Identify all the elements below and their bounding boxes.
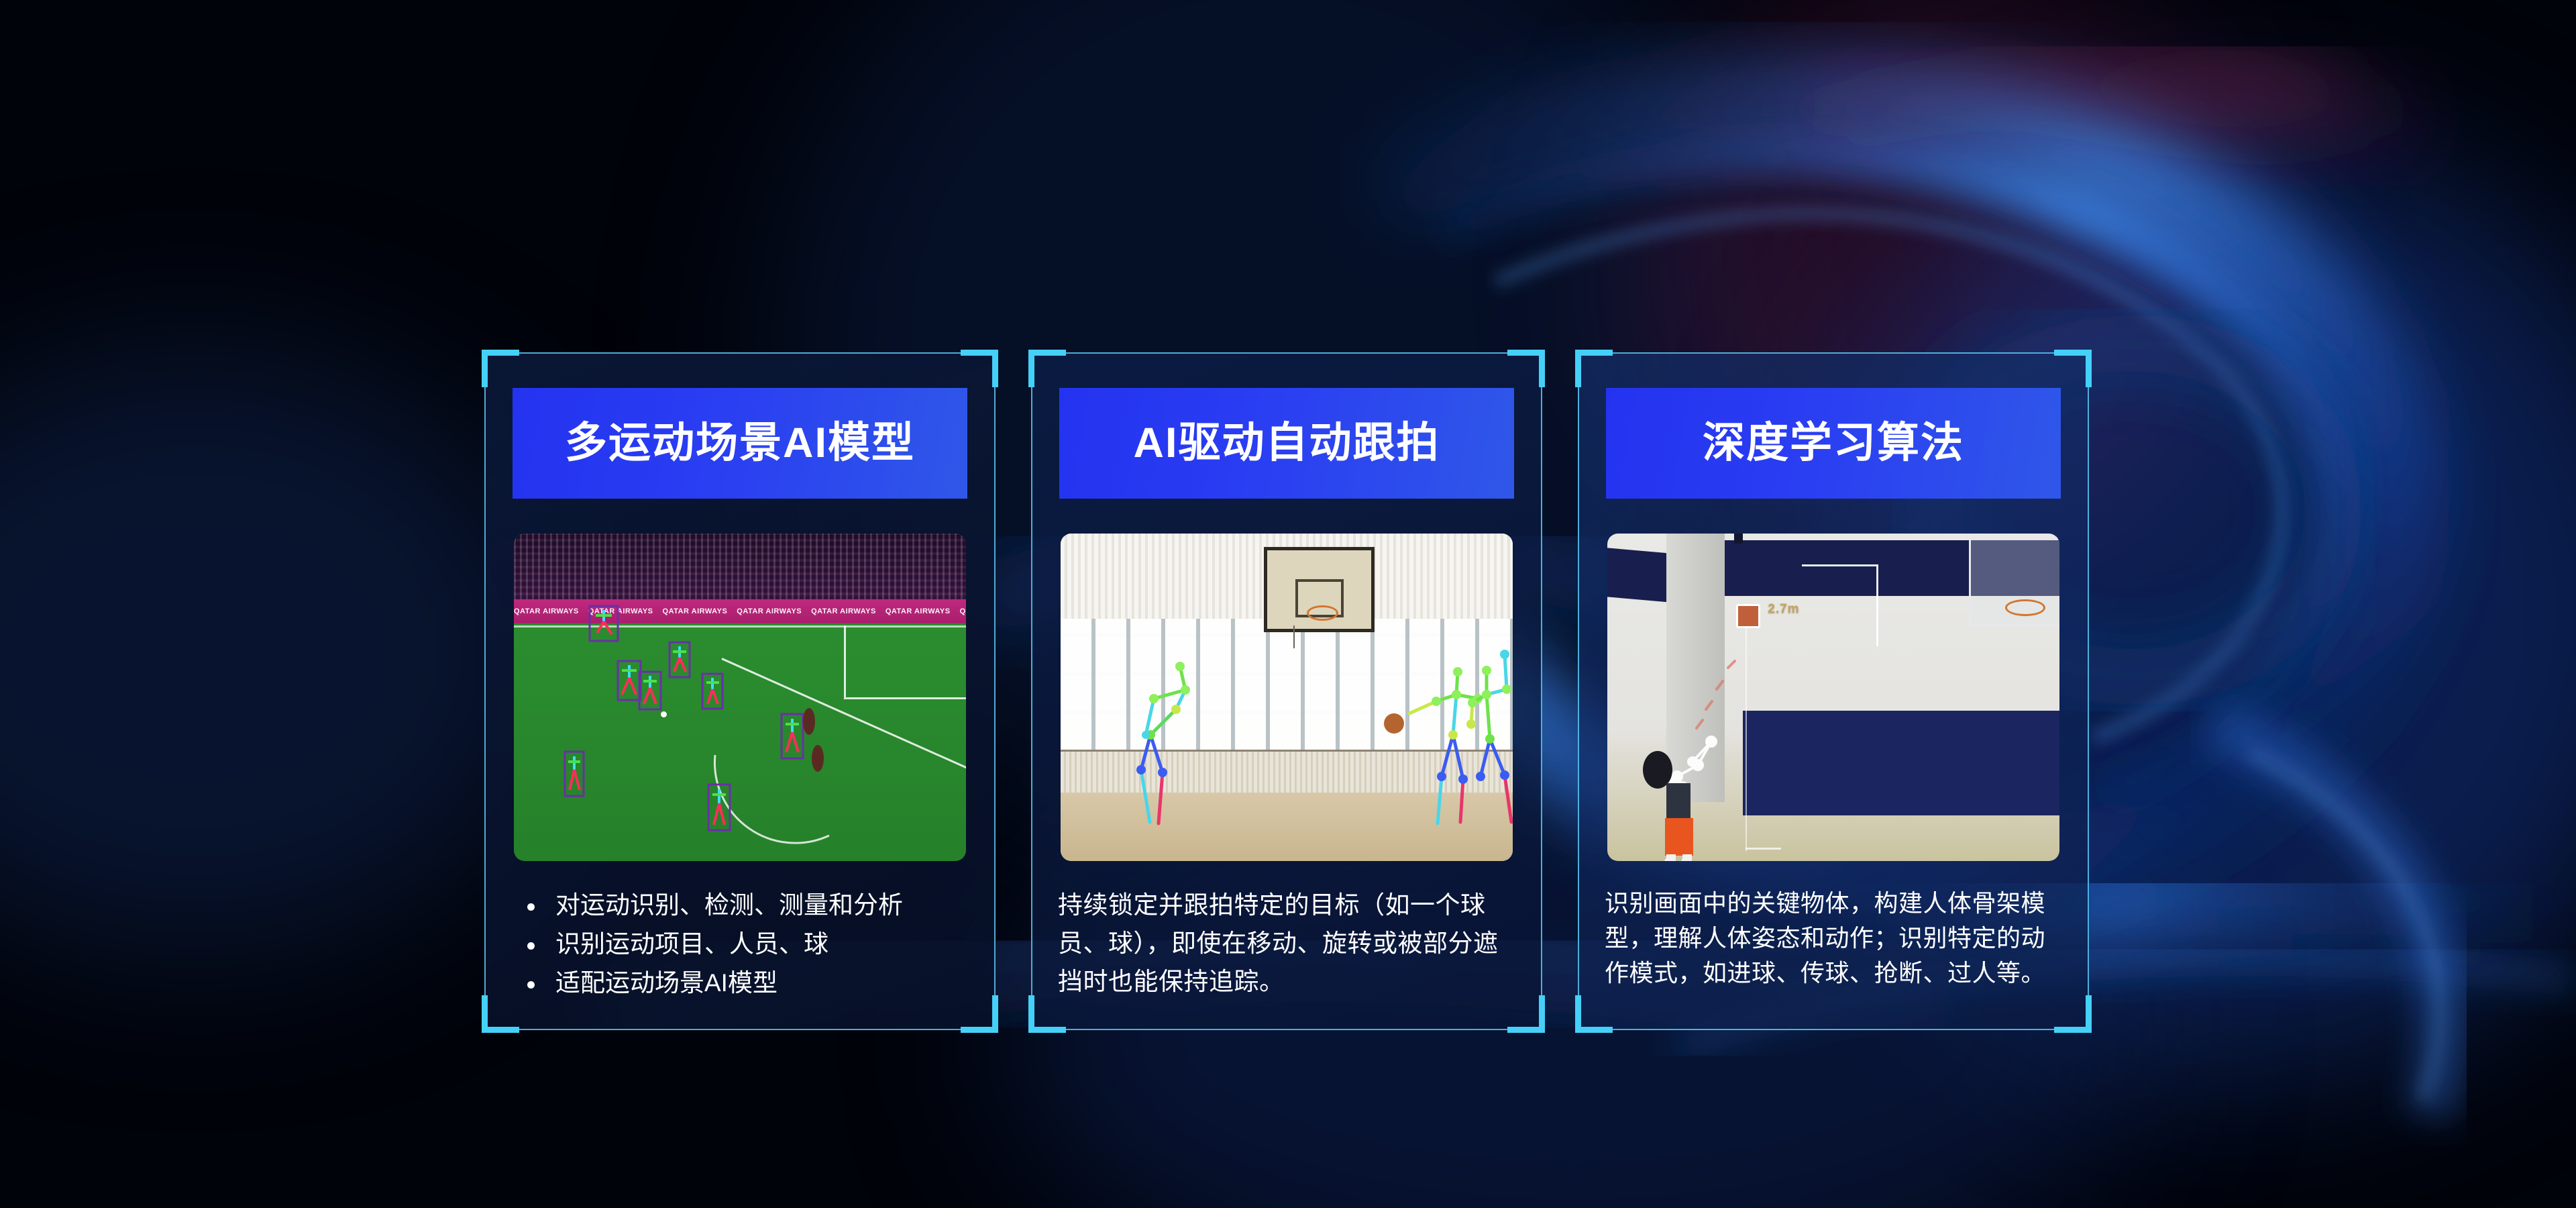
card-title-banner: 多运动场景AI模型 xyxy=(513,388,967,499)
card-title-banner: 深度学习算法 xyxy=(1606,388,2061,499)
list-item: 识别运动项目、人员、球 xyxy=(511,925,971,964)
feature-card-sports-ai-model[interactable]: 多运动场景AI模型 QATAR AIRWAYS QATAR AIRWAYS QA… xyxy=(484,352,996,1030)
pose-skeletons xyxy=(1061,534,1513,861)
card-title: 多运动场景AI模型 xyxy=(565,422,915,464)
card-title: 深度学习算法 xyxy=(1703,422,1964,464)
feature-description: 识别画面中的关键物体，构建人体骨架模型，理解人体姿态和动作；识别特定的动作模式，… xyxy=(1605,886,2065,991)
list-item: 对运动识别、检测、测量和分析 xyxy=(511,886,971,925)
feature-bullet-list: 对运动识别、检测、测量和分析 识别运动项目、人员、球 适配运动场景AI模型 xyxy=(511,886,971,1003)
soccer-ball xyxy=(661,711,667,717)
pose-skeleton xyxy=(1607,534,2059,861)
card-title: AI驱动自动跟拍 xyxy=(1134,422,1440,464)
feature-card-deep-learning-algorithm[interactable]: 深度学习算法 2.7m xyxy=(1578,352,2089,1030)
feature-description: 持续锁定并跟拍特定的目标（如一个球员、球），即使在移动、旋转或被部分遮挡时也能保… xyxy=(1058,886,1518,1001)
court-shot-measurement-thumbnail[interactable]: 2.7m xyxy=(1607,534,2059,861)
card-body: 对运动识别、检测、测量和分析 识别运动项目、人员、球 适配运动场景AI模型 xyxy=(511,886,971,1003)
card-body: 持续锁定并跟拍特定的目标（如一个球员、球），即使在移动、旋转或被部分遮挡时也能保… xyxy=(1058,886,1518,1001)
card-title-banner: AI驱动自动跟拍 xyxy=(1059,388,1514,499)
soccer-pitch-detection-thumbnail[interactable]: QATAR AIRWAYS QATAR AIRWAYS QATAR AIRWAY… xyxy=(514,534,966,861)
feature-card-ai-auto-tracking[interactable]: AI驱动自动跟拍 xyxy=(1031,352,1542,1030)
card-body: 识别画面中的关键物体，构建人体骨架模型，理解人体姿态和动作；识别特定的动作模式，… xyxy=(1605,886,2065,991)
list-item: 适配运动场景AI模型 xyxy=(511,964,971,1003)
gym-basketball-pose-thumbnail[interactable] xyxy=(1061,534,1513,861)
pose-skeletons xyxy=(514,534,966,861)
